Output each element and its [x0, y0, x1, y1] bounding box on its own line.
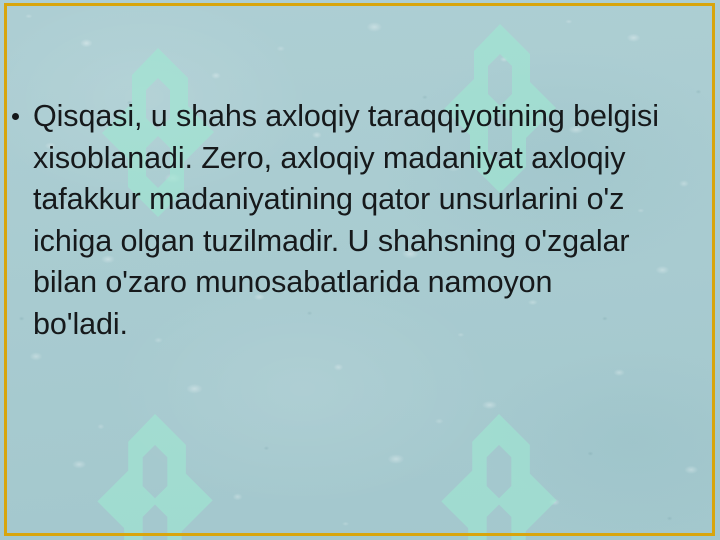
bullet-paragraph-text: Qisqasi, u shahs axloqiy taraqqiyotining… [33, 96, 704, 345]
bullet-marker-icon [12, 96, 33, 120]
frame-rule-top [4, 3, 715, 6]
bullet-list-item: Qisqasi, u shahs axloqiy taraqqiyotining… [12, 96, 704, 345]
slide-canvas: Qisqasi, u shahs axloqiy taraqqiyotining… [0, 0, 720, 540]
ribbon-knot-watermark-icon [440, 414, 558, 540]
content-body: Qisqasi, u shahs axloqiy taraqqiyotining… [12, 96, 704, 345]
ribbon-knot-watermark-icon [96, 414, 214, 540]
frame-rule-bottom [4, 533, 715, 536]
frame-rule-left [4, 3, 7, 536]
frame-rule-right [712, 3, 715, 536]
